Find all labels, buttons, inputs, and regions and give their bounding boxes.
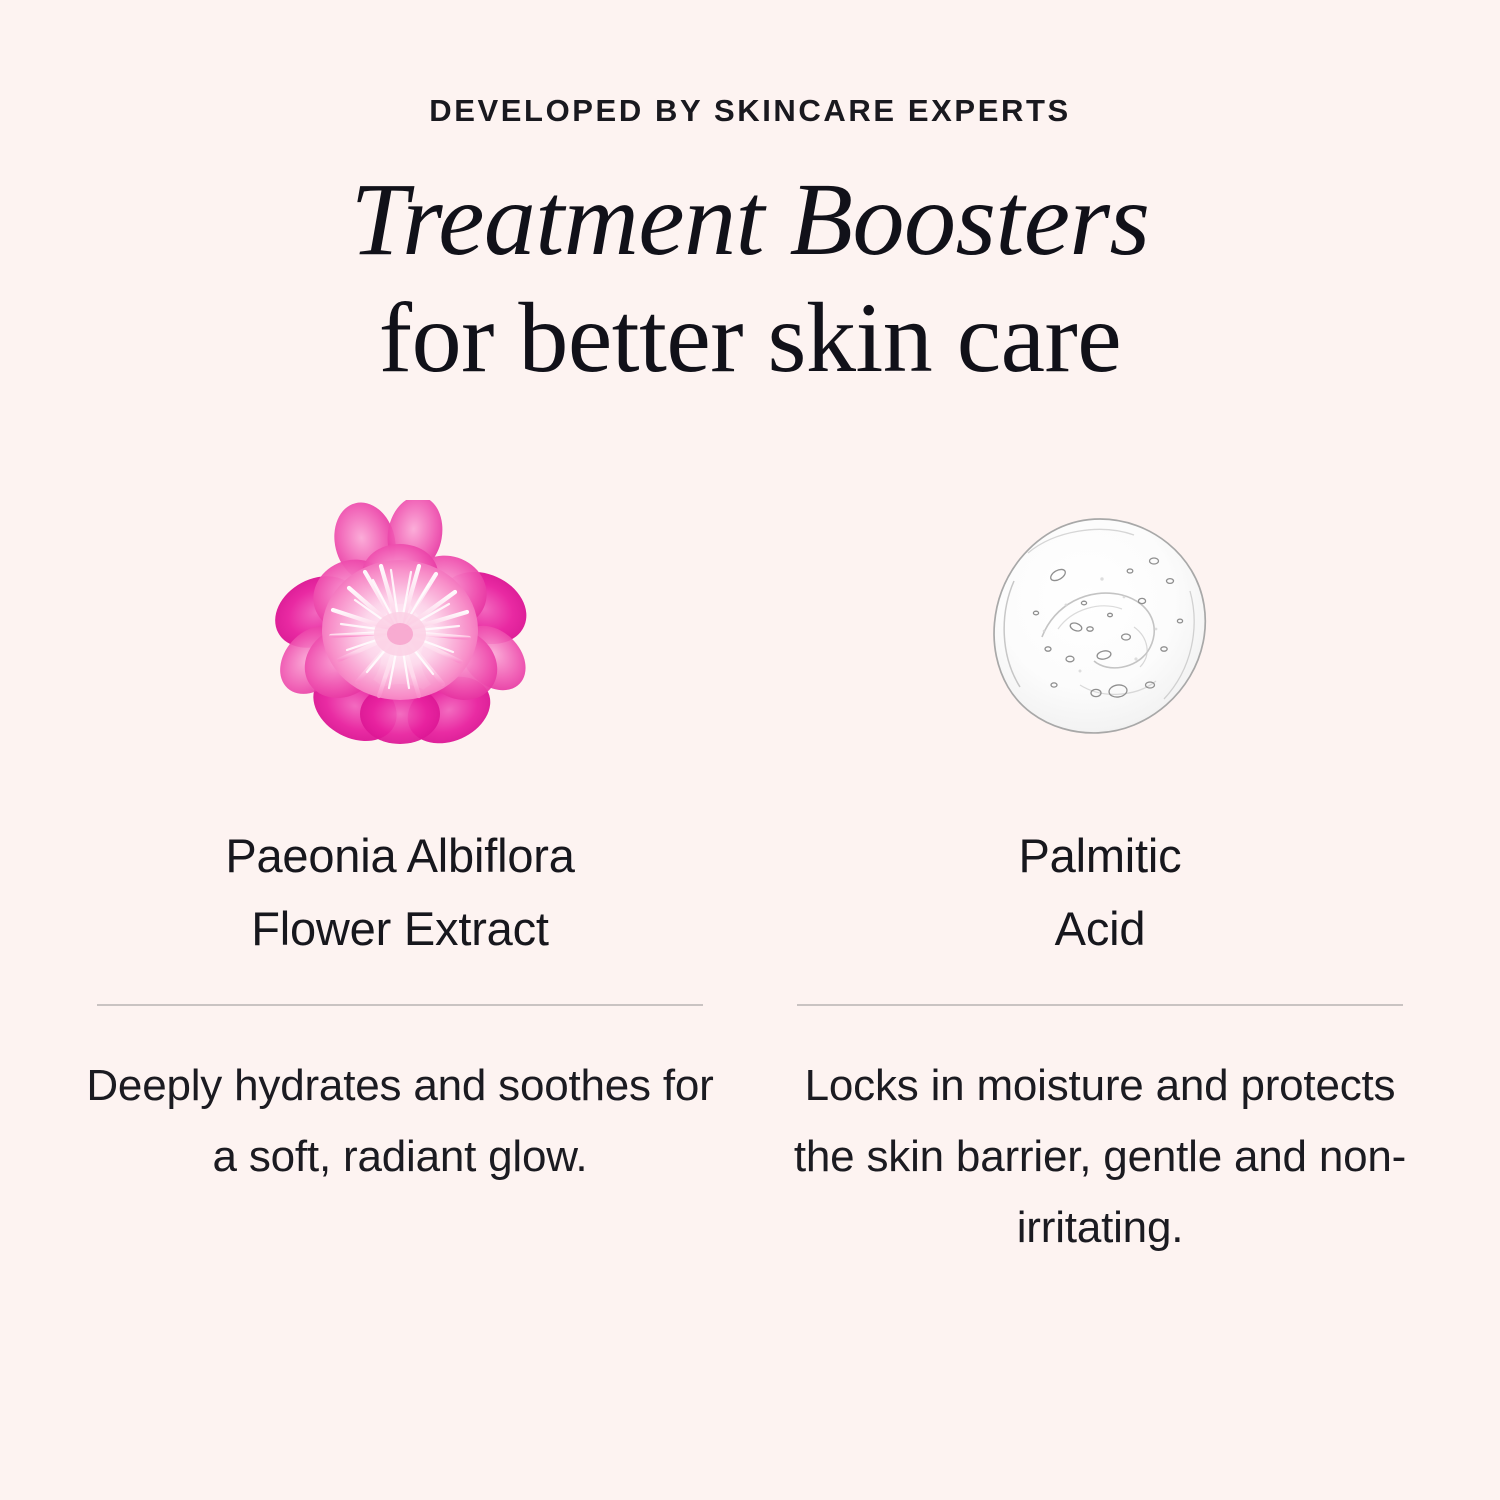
- ingredient-name-line-2: Acid: [1019, 892, 1182, 965]
- peony-flower-icon: [269, 500, 531, 750]
- ingredient-name-line-1: Paeonia Albiflora: [225, 819, 574, 892]
- ingredient-name-palmitic: Palmitic Acid: [1019, 819, 1182, 966]
- ingredient-visual-right: [750, 492, 1450, 757]
- page-title-line-1: Treatment Boosters: [351, 168, 1150, 272]
- skincare-ingredient-infographic: DEVELOPED BY SKINCARE EXPERTS Treatment …: [0, 0, 1500, 1500]
- ingredient-description-peony: Deeply hydrates and soothes for a soft, …: [80, 1050, 720, 1193]
- divider-right: [797, 1004, 1403, 1006]
- ingredient-column-peony: Paeonia Albiflora Flower Extract Deeply …: [50, 492, 750, 1192]
- gel-droplet-icon: [984, 509, 1216, 741]
- ingredient-name-peony: Paeonia Albiflora Flower Extract: [225, 819, 574, 966]
- page-title: Treatment Boosters for better skin care: [351, 168, 1150, 388]
- divider-left: [97, 1004, 703, 1006]
- eyebrow-text: DEVELOPED BY SKINCARE EXPERTS: [429, 95, 1071, 126]
- page-title-line-2: for better skin care: [351, 288, 1150, 388]
- ingredient-visual-left: [50, 492, 750, 757]
- ingredient-name-line-1: Palmitic: [1019, 819, 1182, 892]
- ingredient-name-line-2: Flower Extract: [225, 892, 574, 965]
- ingredient-description-palmitic: Locks in moisture and protects the skin …: [780, 1050, 1420, 1264]
- ingredient-column-palmitic: Palmitic Acid Locks in moisture and prot…: [750, 492, 1450, 1263]
- ingredient-columns: Paeonia Albiflora Flower Extract Deeply …: [0, 492, 1500, 1263]
